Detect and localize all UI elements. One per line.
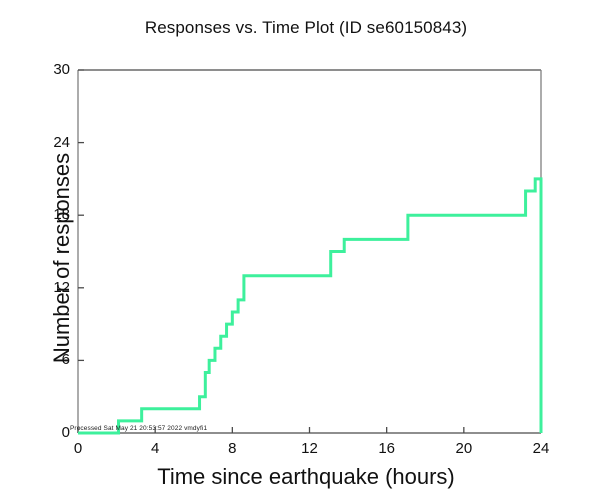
plot-axes — [78, 70, 541, 433]
x-tick-label: 12 — [290, 440, 330, 457]
x-tick-label: 0 — [58, 440, 98, 457]
x-tick-label: 24 — [521, 440, 561, 457]
data-series-group — [78, 179, 541, 433]
x-tick-label: 4 — [135, 440, 175, 457]
processing-timestamp: Processed Sat May 21 20:53:57 2022 vmdyf… — [70, 425, 207, 432]
tick-marks — [78, 70, 541, 433]
response-step-line — [78, 179, 541, 433]
chart-canvas: Responses vs. Time Plot (ID se60150843) … — [0, 0, 612, 504]
x-tick-label: 20 — [444, 440, 484, 457]
y-tick-label: 0 — [30, 424, 70, 441]
y-axis-title: Number of responses — [49, 108, 75, 408]
x-axis-title: Time since earthquake (hours) — [0, 464, 612, 490]
x-tick-label: 8 — [212, 440, 252, 457]
x-tick-label: 16 — [367, 440, 407, 457]
y-tick-label: 30 — [30, 61, 70, 78]
